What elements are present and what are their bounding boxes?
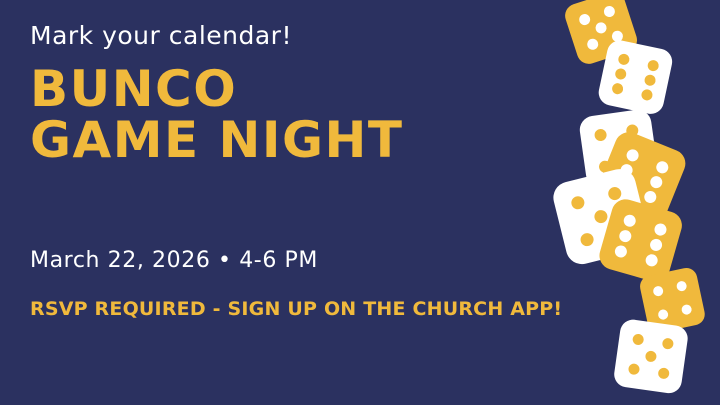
event-flyer: Mark your calendar! BUNCO GAME NIGHT Mar…: [0, 0, 720, 405]
rsvp-instruction: RSVP REQUIRED - SIGN UP ON THE CHURCH AP…: [30, 298, 562, 320]
die-bottom-white: [613, 318, 690, 395]
page-title: BUNCO GAME NIGHT: [30, 64, 510, 167]
title-line-2: GAME NIGHT: [30, 115, 510, 167]
headline-block: Mark your calendar! BUNCO GAME NIGHT: [30, 22, 510, 167]
event-date-time: March 22, 2026 • 4-6 PM: [30, 248, 318, 273]
eyebrow-text: Mark your calendar!: [30, 22, 510, 50]
title-line-1: BUNCO: [30, 60, 237, 118]
die-top-white: [596, 38, 674, 116]
dice-illustration: [490, 0, 720, 405]
